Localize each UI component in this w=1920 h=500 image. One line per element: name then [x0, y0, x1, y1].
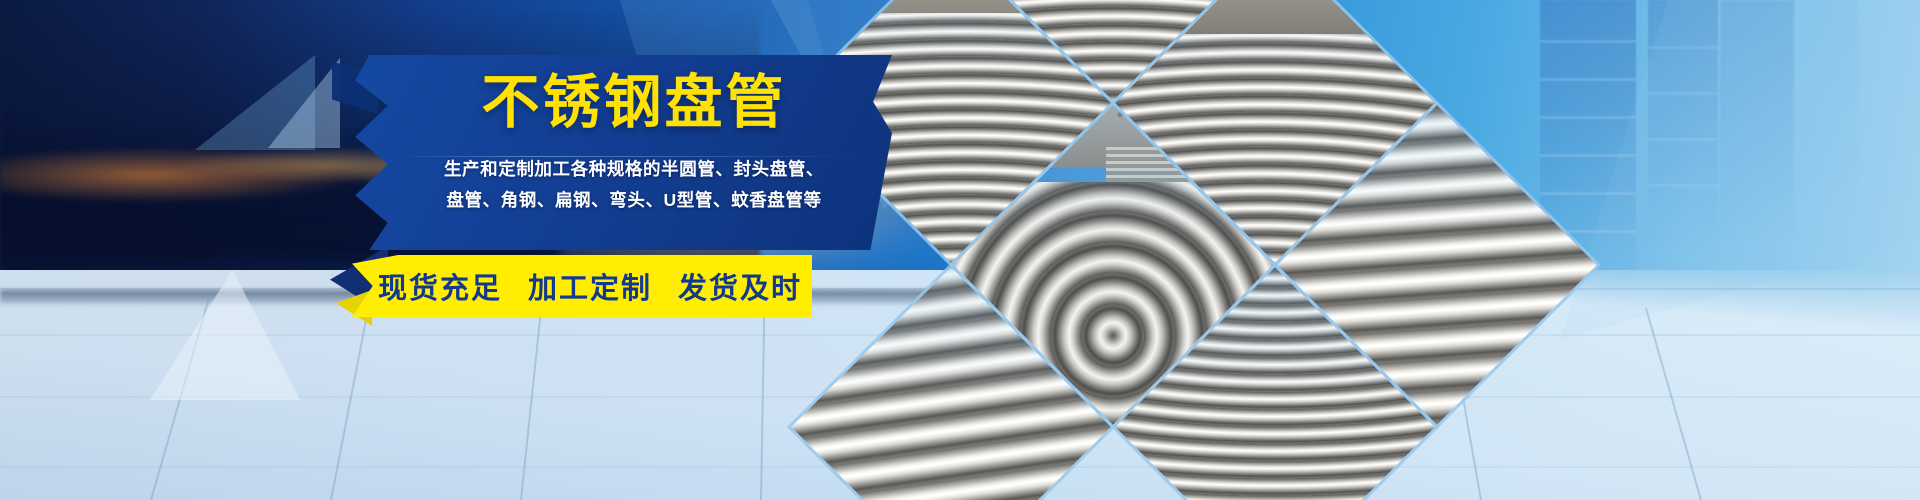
- page-title: 不锈钢盘管: [481, 71, 786, 136]
- product-hero-banner: 不锈钢盘管 生产和定制加工各种规格的半圆管、封头盘管、 盘管、角钢、扁钢、弯头、…: [0, 0, 1920, 500]
- subtitle-block: 生产和定制加工各种规格的半圆管、封头盘管、 盘管、角钢、扁钢、弯头、U型管、蚊香…: [444, 154, 824, 215]
- feature-ribbon: 现货充足 加工定制 发货及时: [352, 255, 812, 317]
- feature-list: 现货充足 加工定制 发货及时: [378, 265, 802, 307]
- feature-item-custom: 加工定制: [528, 265, 652, 307]
- subtitle-line-1: 生产和定制加工各种规格的半圆管、封头盘管、: [444, 154, 824, 185]
- feature-item-stock: 现货充足: [378, 265, 502, 307]
- glass-tower-icon: [1648, 0, 1718, 246]
- product-photo-collage: [820, 0, 1380, 500]
- subtitle-line-2: 盘管、角钢、扁钢、弯头、U型管、蚊香盘管等: [444, 185, 824, 216]
- feature-item-shipping: 发货及时: [678, 265, 802, 307]
- title-panel: 不锈钢盘管 生产和定制加工各种规格的半圆管、封头盘管、 盘管、角钢、扁钢、弯头、…: [352, 55, 892, 250]
